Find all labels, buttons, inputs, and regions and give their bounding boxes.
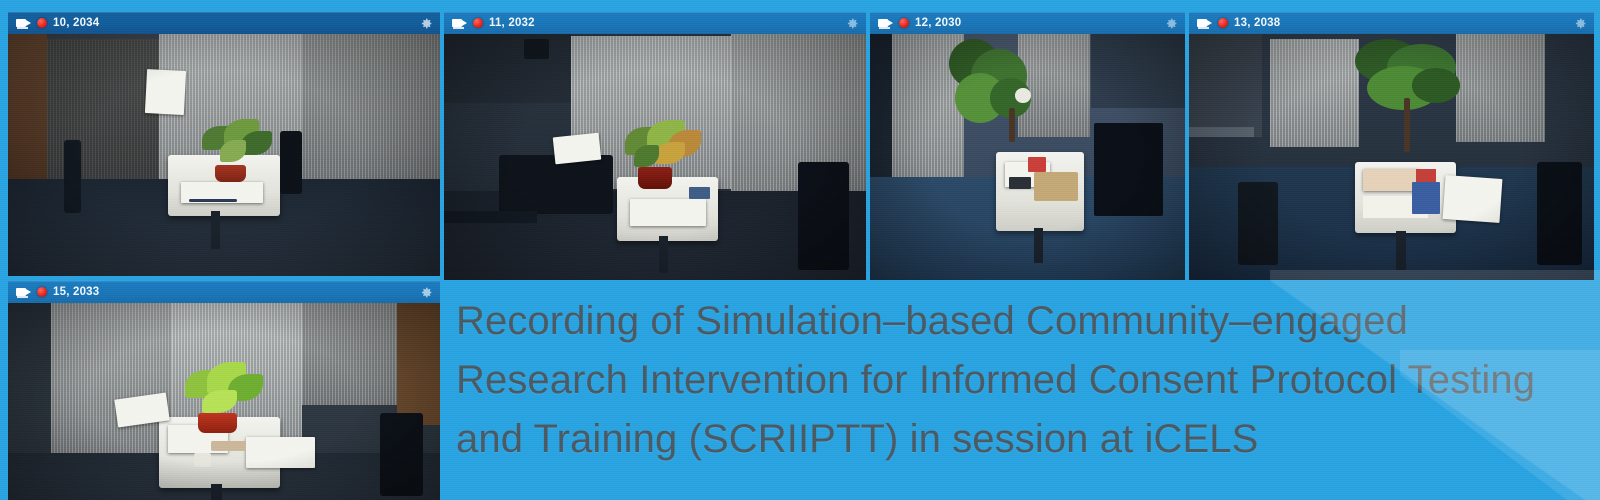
record-dot-icon: [37, 18, 47, 28]
video-feed-10[interactable]: [8, 34, 440, 276]
camera-icon: [1197, 18, 1212, 29]
scene-12: [870, 34, 1185, 280]
gear-icon[interactable]: [846, 17, 859, 30]
scene-10: [8, 34, 440, 276]
record-dot-icon: [37, 287, 47, 297]
gear-icon[interactable]: [1574, 17, 1587, 30]
panel-title-12: 12, 2030: [915, 17, 961, 29]
record-dot-icon: [1218, 18, 1228, 28]
panel-titlebar-12[interactable]: 12, 2030: [870, 12, 1185, 34]
video-panel-15[interactable]: 15, 2033: [8, 281, 440, 500]
video-panel-11[interactable]: 11, 2032: [444, 12, 866, 280]
video-feed-11[interactable]: [444, 34, 866, 280]
gear-icon[interactable]: [1165, 17, 1178, 30]
panel-titlebar-10[interactable]: 10, 2034: [8, 12, 440, 34]
panel-titlebar-15[interactable]: 15, 2033: [8, 281, 440, 303]
panel-titlebar-11[interactable]: 11, 2032: [444, 12, 866, 34]
panel-title-13: 13, 2038: [1234, 17, 1280, 29]
scene-15: [8, 303, 440, 500]
gear-icon[interactable]: [420, 286, 433, 299]
camera-icon: [452, 18, 467, 29]
video-panel-12[interactable]: 12, 2030: [870, 12, 1185, 280]
camera-icon: [16, 18, 31, 29]
scene-13: [1189, 34, 1594, 280]
video-feed-13[interactable]: [1189, 34, 1594, 280]
video-wall: 10, 2034: [0, 0, 1600, 500]
video-feed-12[interactable]: [870, 34, 1185, 280]
video-feed-15[interactable]: [8, 303, 440, 500]
panel-title-10: 10, 2034: [53, 17, 99, 29]
video-panel-10[interactable]: 10, 2034: [8, 12, 440, 276]
camera-icon: [878, 18, 893, 29]
panel-title-11: 11, 2032: [489, 17, 535, 29]
caption-text: Recording of Simulation–based Community–…: [456, 292, 1546, 469]
video-panel-13[interactable]: 13, 2038: [1189, 12, 1594, 280]
camera-icon: [16, 287, 31, 298]
record-dot-icon: [899, 18, 909, 28]
panel-titlebar-13[interactable]: 13, 2038: [1189, 12, 1594, 34]
scene-11: [444, 34, 866, 280]
panel-title-15: 15, 2033: [53, 286, 99, 298]
gear-icon[interactable]: [420, 17, 433, 30]
record-dot-icon: [473, 18, 483, 28]
